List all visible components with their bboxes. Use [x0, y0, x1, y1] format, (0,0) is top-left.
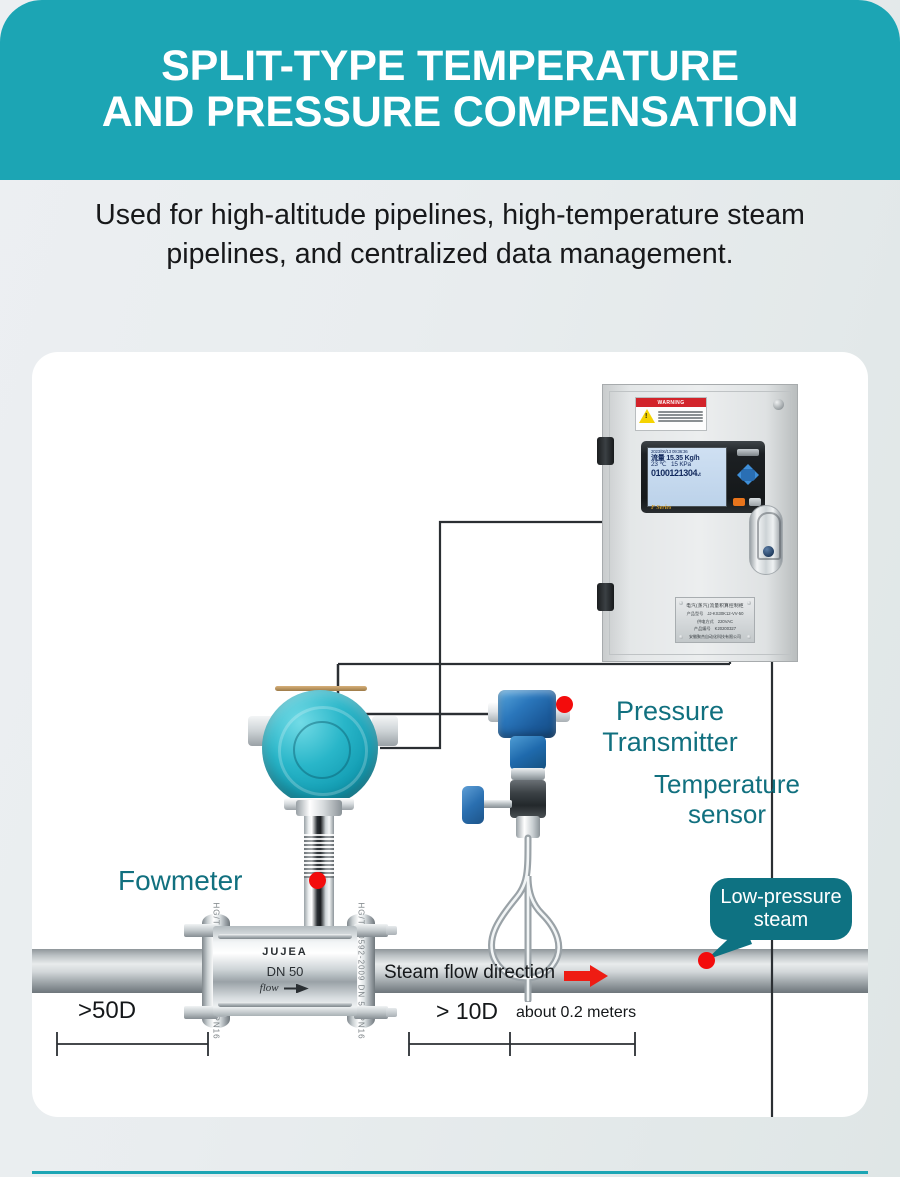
cabinet-door-handle[interactable]	[749, 505, 783, 575]
dimension-spacing: about 0.2 meters	[516, 1004, 636, 1022]
valve-handwheel[interactable]	[462, 786, 484, 824]
dpad-down-icon[interactable]	[743, 480, 753, 490]
flowmeter-head-housing	[262, 690, 378, 806]
recorder-dpad[interactable]	[732, 460, 764, 490]
flowmeter-brand-label: JUJEA	[213, 946, 357, 958]
nameplate-model-value: JJ-KS30K12-VV-50	[707, 611, 743, 617]
nameplate-serial-key: 产品编号	[694, 626, 711, 632]
dpad-right-icon[interactable]	[754, 470, 764, 480]
label-ts-line-1: Temperature	[654, 769, 800, 799]
nameplate-screw-bl	[679, 635, 683, 639]
pressure-transmitter-valve	[510, 780, 546, 818]
warning-text-lines	[658, 409, 703, 423]
nameplate-screw-br	[747, 635, 751, 639]
nameplate-serial-value: K20200327	[715, 626, 736, 632]
nameplate-model-key: 产品型号	[687, 611, 704, 617]
dimension-upstream: >50D	[78, 997, 136, 1025]
nameplate-row-model: 产品型号 JJ-KS30K12-VV-50	[682, 611, 748, 617]
header-banner: SPLIT-TYPE TEMPERATURE AND PRESSURE COMP…	[0, 0, 900, 180]
cabinet-screw-icon	[773, 399, 784, 410]
paperless-recorder[interactable]: 2023/06/13 09:36:36 流量 15.35 Kg/h 23 ℃ 1…	[641, 441, 765, 513]
valve-handle-stem	[482, 800, 512, 808]
label-steam-flow-direction: Steam flow direction	[384, 962, 555, 984]
nameplate-screw-tr	[747, 601, 751, 605]
pressure-transmitter-flange	[511, 768, 545, 780]
flow-arrow-icon	[284, 984, 310, 993]
flange-bolt-tr	[354, 924, 388, 937]
subtitle-text: Used for high-altitude pipelines, high-t…	[40, 196, 860, 275]
steam-flow-arrow-icon	[564, 964, 610, 988]
system-diagram: WARNING 2023/06/13 09:36:36	[32, 352, 868, 1117]
subtitle-line-2: pipelines, and centralized data manageme…	[166, 238, 733, 270]
flowmeter-size-label: DN 50	[213, 964, 357, 979]
lcd-totalizer-row: 0100121304.t	[651, 469, 723, 479]
callout-low-pressure-steam: Low-pressure steam	[710, 878, 852, 940]
callout-steam-line-2: steam	[754, 909, 808, 931]
dpad-enter-button[interactable]	[741, 469, 755, 481]
flowmeter-tierod-bottom	[218, 1002, 352, 1007]
label-flowmeter: Fowmeter	[118, 865, 242, 897]
marker-dot-pressure-transmitter	[556, 696, 573, 713]
cabinet-nameplate: 电汽(蒸汽)流量积算控制柜 产品型号 JJ-KS30K12-VV-50 供电方式…	[675, 597, 755, 643]
nameplate-company: 安徽聚杰自动化科技有限公司	[682, 634, 748, 640]
cabinet-hinge-bottom	[597, 583, 614, 611]
diagram-card: WARNING 2023/06/13 09:36:36	[32, 352, 868, 1117]
page-title-line-1: SPLIT-TYPE TEMPERATURE	[161, 42, 739, 90]
lcd-totalizer-unit: t	[699, 472, 700, 478]
recorder-lcd-screen: 2023/06/13 09:36:36 流量 15.35 Kg/h 23 ℃ 1…	[647, 447, 727, 507]
cabinet-lock-icon[interactable]	[763, 546, 774, 557]
warning-banner-text: WARNING	[636, 398, 706, 407]
flowmeter-collar	[296, 800, 342, 816]
nameplate-power-key: 供电方式	[697, 619, 714, 625]
nameplate-title: 电汽(蒸汽)流量积算控制柜	[682, 603, 748, 609]
subtitle-block: Used for high-altitude pipelines, high-t…	[0, 196, 900, 275]
hazard-triangle-icon	[639, 409, 655, 423]
nameplate-row-serial: 产品编号 K20200327	[682, 626, 748, 632]
flange-bolt-br	[354, 1006, 388, 1019]
flowmeter-flow-text: flow	[260, 982, 279, 994]
flowmeter-tierod-top	[218, 934, 352, 939]
recorder-usb-slot[interactable]	[737, 449, 759, 456]
label-ts-line-2: sensor	[688, 799, 766, 829]
label-pressure-transmitter: Pressure Transmitter	[582, 696, 758, 758]
cabinet-hinge-top	[597, 437, 614, 465]
callout-steam-line-1: Low-pressure	[720, 886, 841, 908]
nameplate-row-power: 供电方式 220VAC	[682, 619, 748, 625]
label-temperature-sensor: Temperature sensor	[632, 770, 822, 829]
bottom-accent-rule	[32, 1171, 868, 1174]
lcd-totalizer-value: 0100121304.	[651, 468, 699, 478]
pressure-transmitter-body	[510, 736, 546, 770]
subtitle-line-1: Used for high-altitude pipelines, high-t…	[95, 199, 805, 231]
nameplate-screw-tl	[679, 601, 683, 605]
label-pt-line-2: Transmitter	[602, 727, 738, 757]
control-cabinet[interactable]: WARNING 2023/06/13 09:36:36	[602, 384, 798, 662]
page-title: SPLIT-TYPE TEMPERATURE AND PRESSURE COMP…	[20, 44, 880, 135]
page-title-line-2: AND PRESSURE COMPENSATION	[102, 88, 799, 136]
marker-dot-low-pressure-steam	[698, 952, 715, 969]
warning-label-body	[636, 407, 706, 425]
warning-label: WARNING	[635, 397, 707, 431]
flowmeter-flow-marking: flow	[213, 982, 357, 994]
recorder-brand-label: F Series	[651, 505, 671, 511]
dpad-up-icon[interactable]	[743, 459, 753, 469]
recorder-orange-button[interactable]	[733, 498, 745, 506]
pressure-transmitter-head	[498, 690, 556, 738]
infographic-page: SPLIT-TYPE TEMPERATURE AND PRESSURE COMP…	[0, 0, 900, 1177]
label-pt-line-1: Pressure	[616, 696, 724, 726]
recorder-grey-button[interactable]	[749, 498, 761, 506]
dimension-downstream: > 10D	[436, 998, 498, 1025]
nameplate-power-value: 220VAC	[718, 619, 733, 625]
callout-steam-text: Low-pressure steam	[720, 886, 841, 931]
recorder-control-panel[interactable]	[731, 447, 759, 507]
marker-dot-flowmeter	[309, 872, 326, 889]
